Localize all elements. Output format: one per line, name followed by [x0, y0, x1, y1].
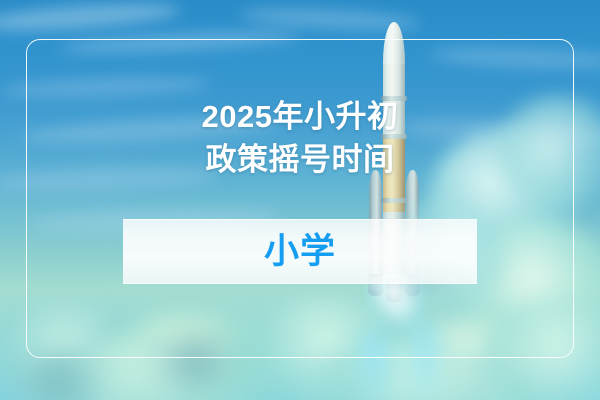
subject-band: 小学 [123, 219, 477, 284]
sky-background [0, 0, 600, 400]
title-line-2: 政策摇号时间 [0, 138, 600, 181]
title-line-1: 2025年小升初 [0, 95, 600, 138]
rocket-nose-cone [383, 22, 405, 68]
subject-label: 小学 [264, 234, 336, 269]
rocket-band [381, 198, 407, 203]
page-title: 2025年小升初 政策摇号时间 [0, 95, 600, 181]
poster-card: 2025年小升初 政策摇号时间 小学 [0, 0, 600, 400]
